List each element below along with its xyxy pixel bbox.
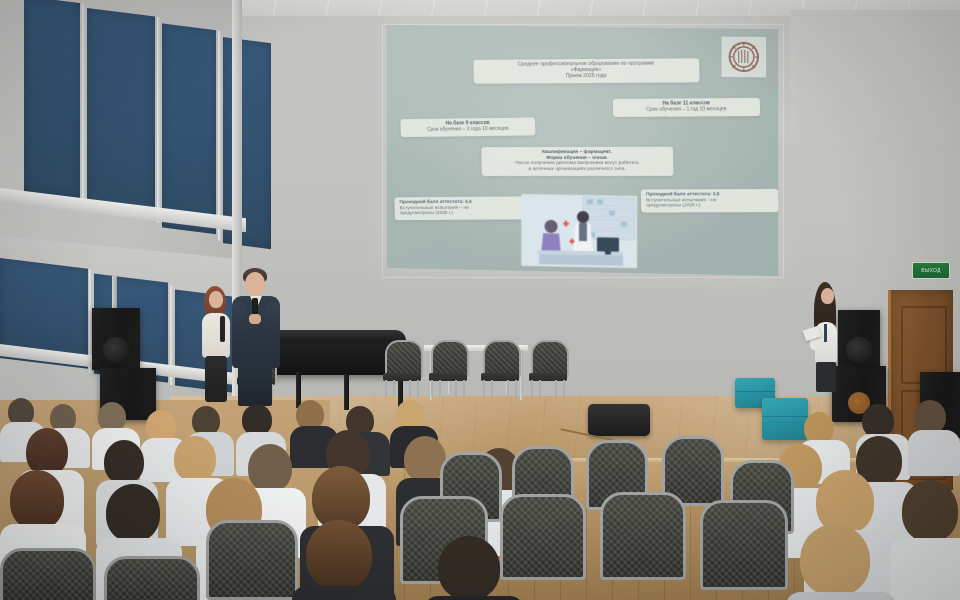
- head: [245, 272, 265, 296]
- auditorium-photo: Среднее профессиональное образование по …: [0, 0, 960, 600]
- pa-speaker-top-left: [92, 308, 140, 370]
- stage-chair: [528, 340, 568, 396]
- audience-chair: [206, 520, 298, 600]
- slide-card-base11: На базе 11 классов Срок обучения – 1 год…: [613, 98, 760, 117]
- slide-card-base9: На базе 9 классов Срок обучения – 3 года…: [400, 117, 535, 136]
- college-emblem-icon: [722, 37, 767, 78]
- audience-chair: [104, 556, 200, 600]
- hand: [249, 314, 261, 324]
- trousers: [238, 366, 272, 406]
- slide-card-score-left: Проходной балл аттестата: 3,4 Вступитель…: [394, 196, 527, 219]
- speaker-pole-left: [112, 276, 117, 312]
- pa-speaker-top-right: [838, 310, 880, 368]
- score-left-detail2: предусмотрены (2025 г.): [400, 210, 523, 216]
- arm-left: [233, 302, 246, 346]
- base11-detail: Срок обучения – 1 год 10 месяцев: [618, 107, 755, 114]
- piano-leg: [344, 374, 349, 410]
- stage-chair: [428, 340, 468, 396]
- projection-screen: Среднее профессиональное образование по …: [387, 25, 778, 276]
- lanyard: [824, 324, 827, 342]
- audience-chair: [0, 548, 96, 600]
- equipment-case: [588, 404, 650, 436]
- qualification-line4: в аптечных организациях различного типа.: [487, 167, 669, 173]
- head: [821, 288, 834, 304]
- slide-title-line3: Прием 2025 года: [479, 73, 695, 80]
- base9-detail: Срок обучения – 3 года 10 месяцев: [406, 126, 531, 133]
- slide-title-card: Среднее профессиональное образование по …: [473, 58, 699, 83]
- skirt: [816, 362, 836, 392]
- teal-ottoman: [762, 398, 808, 440]
- stage-chair: [382, 340, 422, 396]
- score-right-detail2: предусмотрены (2025 г.): [646, 203, 773, 209]
- audience-chair: [600, 492, 686, 580]
- slide-card-qualification: Квалификация – фармацевт. Форма обучения…: [481, 147, 673, 176]
- slide-card-score-right: Проходной балл аттестата: 3,5 Вступитель…: [641, 189, 779, 212]
- audience-chair: [500, 494, 586, 580]
- legs: [205, 356, 227, 402]
- pharmacy-illustration: [521, 194, 637, 268]
- arm-right: [266, 302, 279, 344]
- microphone: [220, 316, 225, 342]
- stage-chair: [480, 340, 520, 396]
- exit-sign: ВЫХОД: [912, 262, 950, 279]
- head: [209, 291, 223, 308]
- exit-sign-label: ВЫХОД: [921, 268, 941, 274]
- audience-chair: [700, 500, 788, 590]
